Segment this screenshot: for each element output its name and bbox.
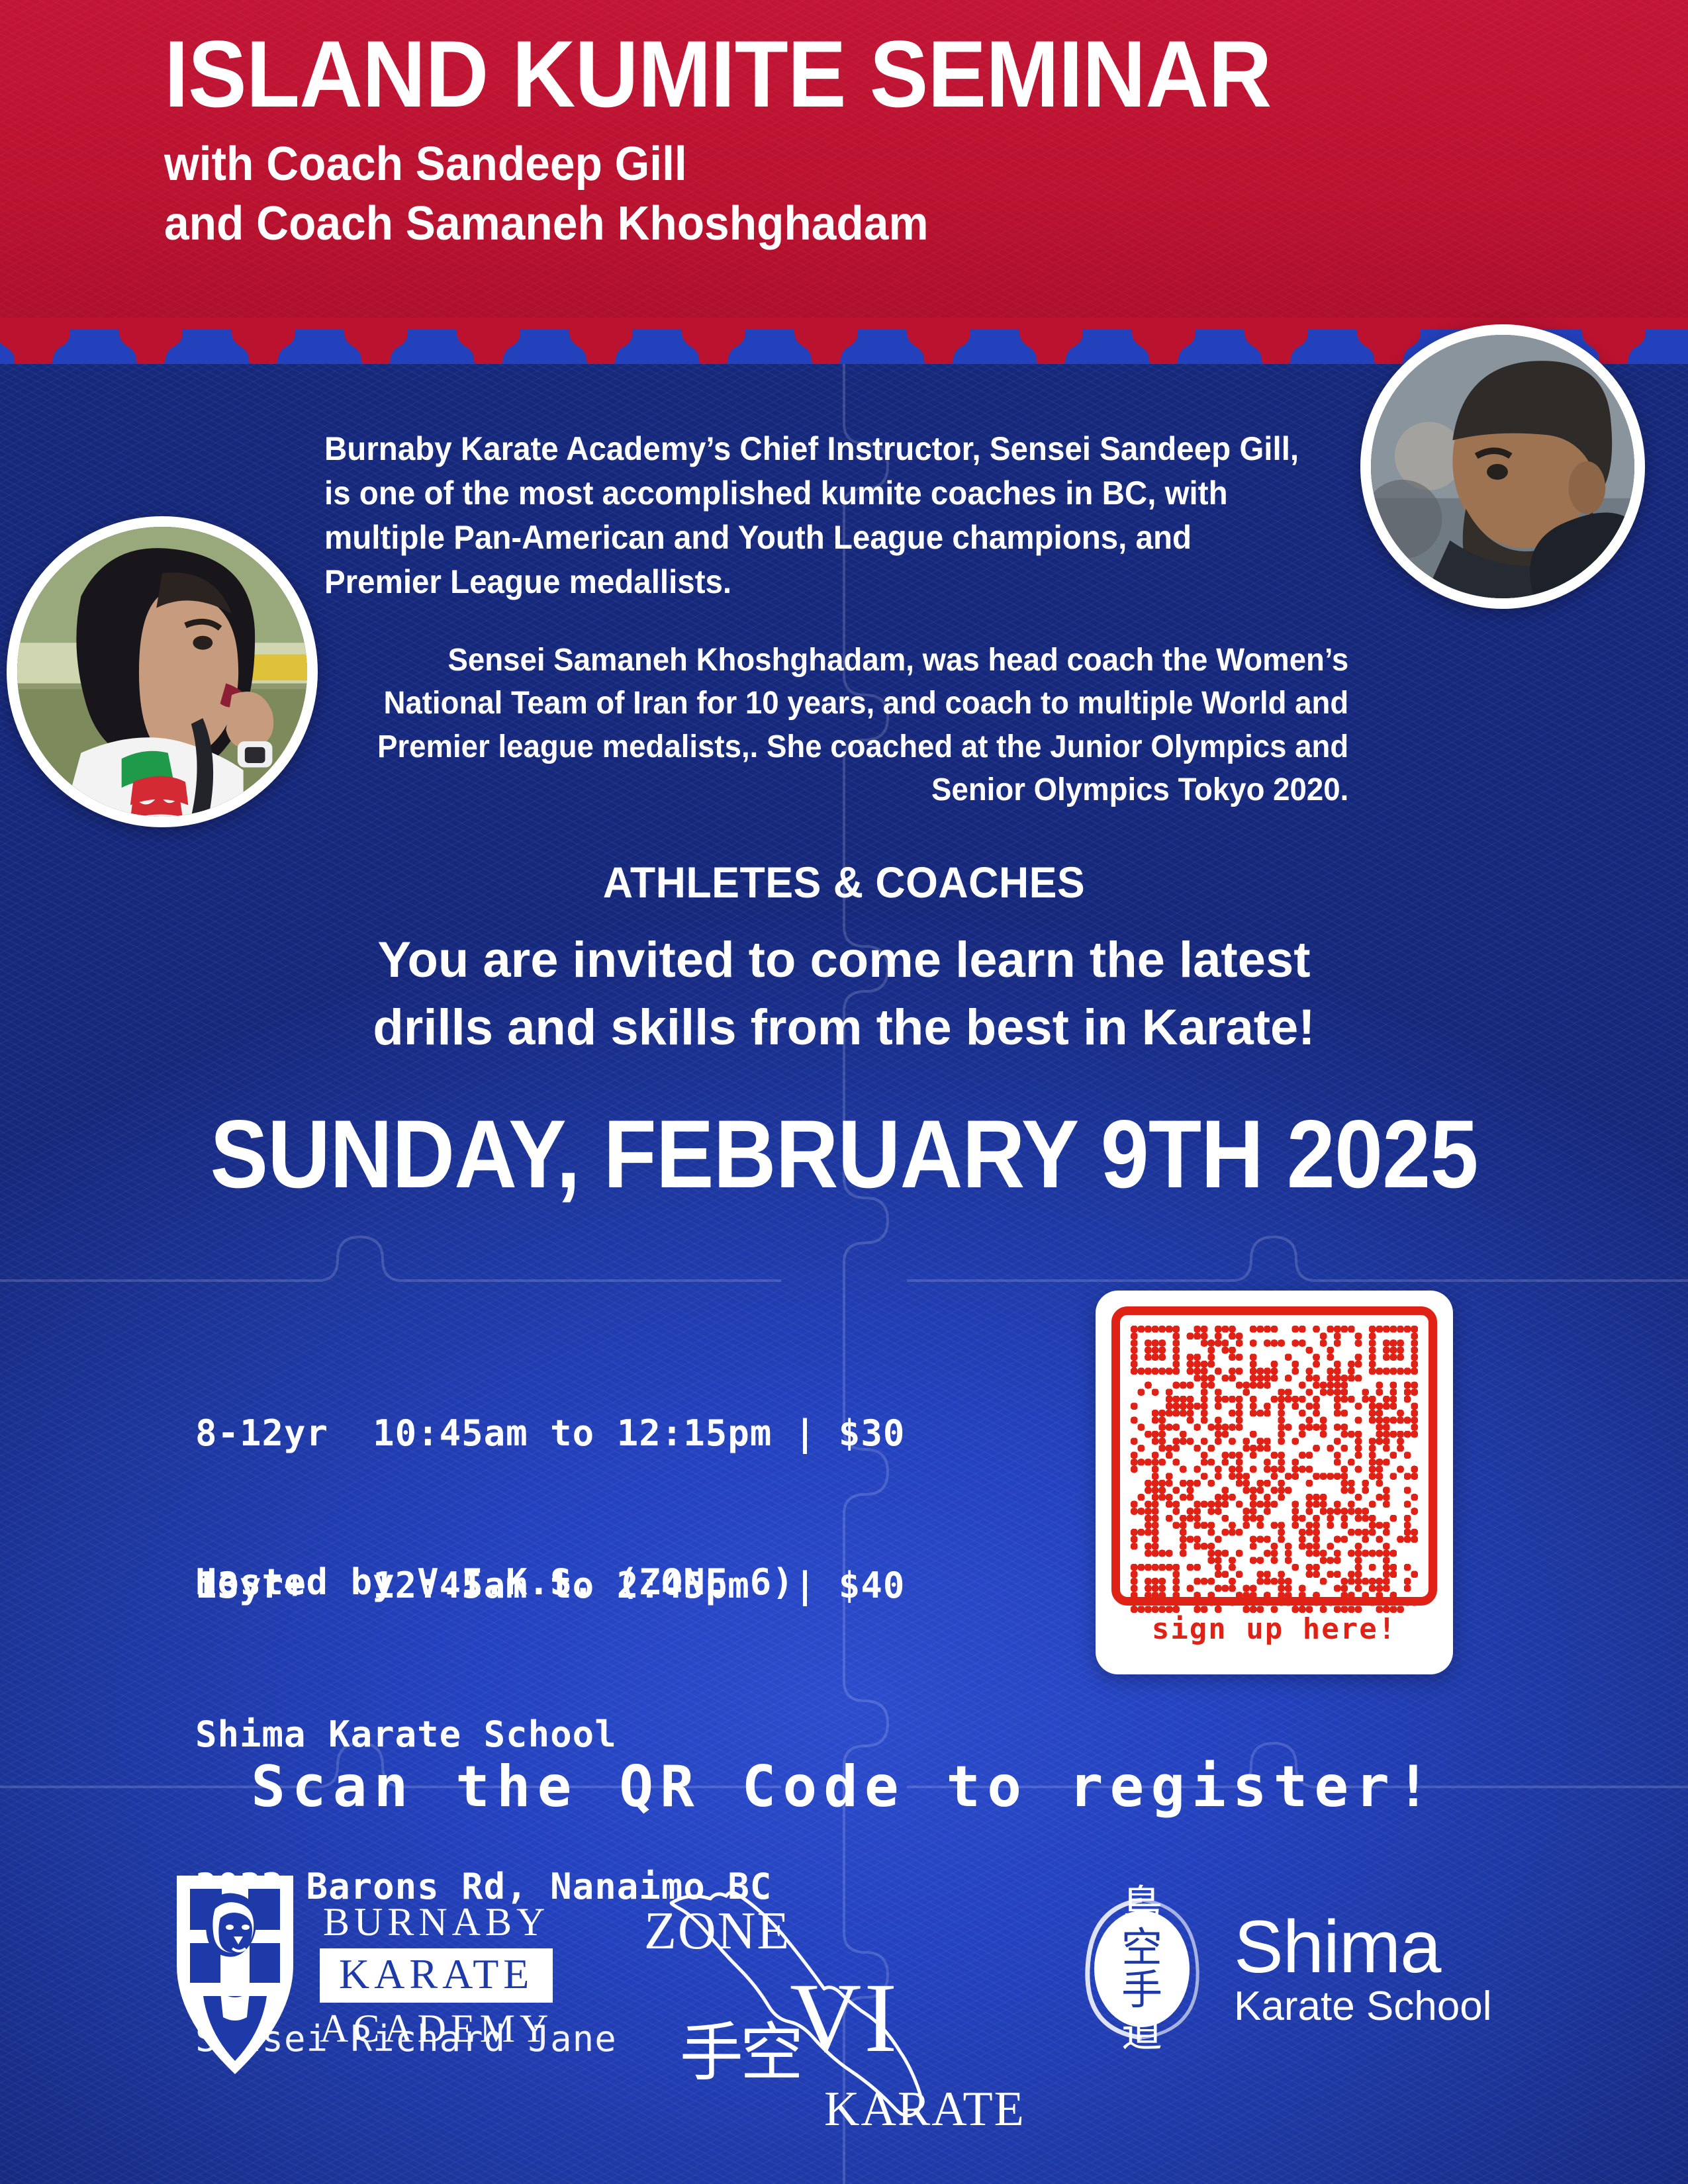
venue-hosted-by: Hosted by V.I.K.S. (ZONE 6) [195, 1557, 794, 1608]
shima-kanji-2: 空 [1121, 1927, 1162, 1968]
venue-school: Shima Karate School [195, 1709, 794, 1760]
qr-signup-card[interactable]: sign up here! [1096, 1291, 1453, 1674]
qr-code-frame[interactable] [1111, 1306, 1437, 1606]
event-date: SUNDAY, FEBRUARY 9TH 2025 [85, 1099, 1604, 1210]
zone-word: ZONE [644, 1901, 790, 1962]
header-subtitle-line2: and Coach Samaneh Khoshghadam [164, 196, 1471, 251]
qr-caption: sign up here! [1111, 1612, 1437, 1646]
shima-kanji-column: 島 空 手 道 [1072, 1870, 1211, 2068]
zone-numeral: VI [790, 1961, 900, 2075]
burnaby-word-2: KARATE [320, 1948, 553, 2002]
bio-samaneh-khoshghadam: Sensei Samaneh Khoshghadam, was head coa… [371, 639, 1348, 811]
burnaby-word-1: BURNABY [320, 1902, 553, 1942]
logo-shima-karate-school: 島 空 手 道 Shima Karate School [1072, 1870, 1491, 2068]
audience-heading: ATHLETES & COACHES [42, 857, 1646, 907]
invitation-text: You are invited to come learn the latest… [0, 927, 1688, 1062]
shield-lion-crest-icon [169, 1866, 301, 2085]
schedule-row-1: 8-12yr 10:45am to 12:15pm | $30 [195, 1408, 905, 1459]
bio-sandeep-gill: Burnaby Karate Academy’s Chief Instructo… [324, 427, 1305, 604]
shima-kanji-3: 手 [1121, 1970, 1162, 2011]
zone-kanji: 空手 [675, 2019, 796, 2134]
sponsor-logo-row: BURNABY KARATE ACADEMY ZONE VI 空手 KARATE [0, 1856, 1688, 2148]
shima-name: Shima [1234, 1911, 1491, 1983]
invitation-line-1: You are invited to come learn the latest [0, 927, 1688, 994]
invitation-line-2: drills and skills from the best in Karat… [0, 994, 1688, 1062]
scan-instruction: Scan the QR Code to register! [0, 1754, 1688, 1820]
shima-kanji-1: 島 [1121, 1885, 1162, 1926]
burnaby-word-3: ACADEMY [320, 2009, 553, 2049]
header-subtitle-line1: with Coach Sandeep Gill [164, 136, 1471, 192]
header-text-block: ISLAND KUMITE SEMINAR with Coach Sandeep… [164, 26, 1554, 251]
logo-burnaby-karate-academy: BURNABY KARATE ACADEMY [169, 1866, 553, 2085]
logo-zone-vi-karate: ZONE VI 空手 KARATE [632, 1856, 1023, 2134]
zone-karate-word: KARATE [824, 2081, 1025, 2138]
shima-kanji-4: 道 [1121, 2012, 1162, 2053]
poster-canvas: ISLAND KUMITE SEMINAR with Coach Sandeep… [0, 0, 1688, 2184]
coach-khoshghadam-photo [7, 516, 318, 827]
page-title: ISLAND KUMITE SEMINAR [164, 26, 1457, 123]
enso-circle-icon: 島 空 手 道 [1072, 1870, 1211, 2068]
shima-subtitle: Karate School [1234, 1987, 1491, 2026]
coach-gill-portrait-art [1371, 335, 1634, 598]
coach-khoshghadam-portrait-art [17, 527, 307, 817]
burnaby-wordmark: BURNABY KARATE ACADEMY [320, 1902, 553, 2049]
coach-gill-photo [1360, 324, 1645, 609]
qr-code-image[interactable] [1131, 1326, 1418, 1613]
shima-wordmark: Shima Karate School [1234, 1911, 1491, 2026]
